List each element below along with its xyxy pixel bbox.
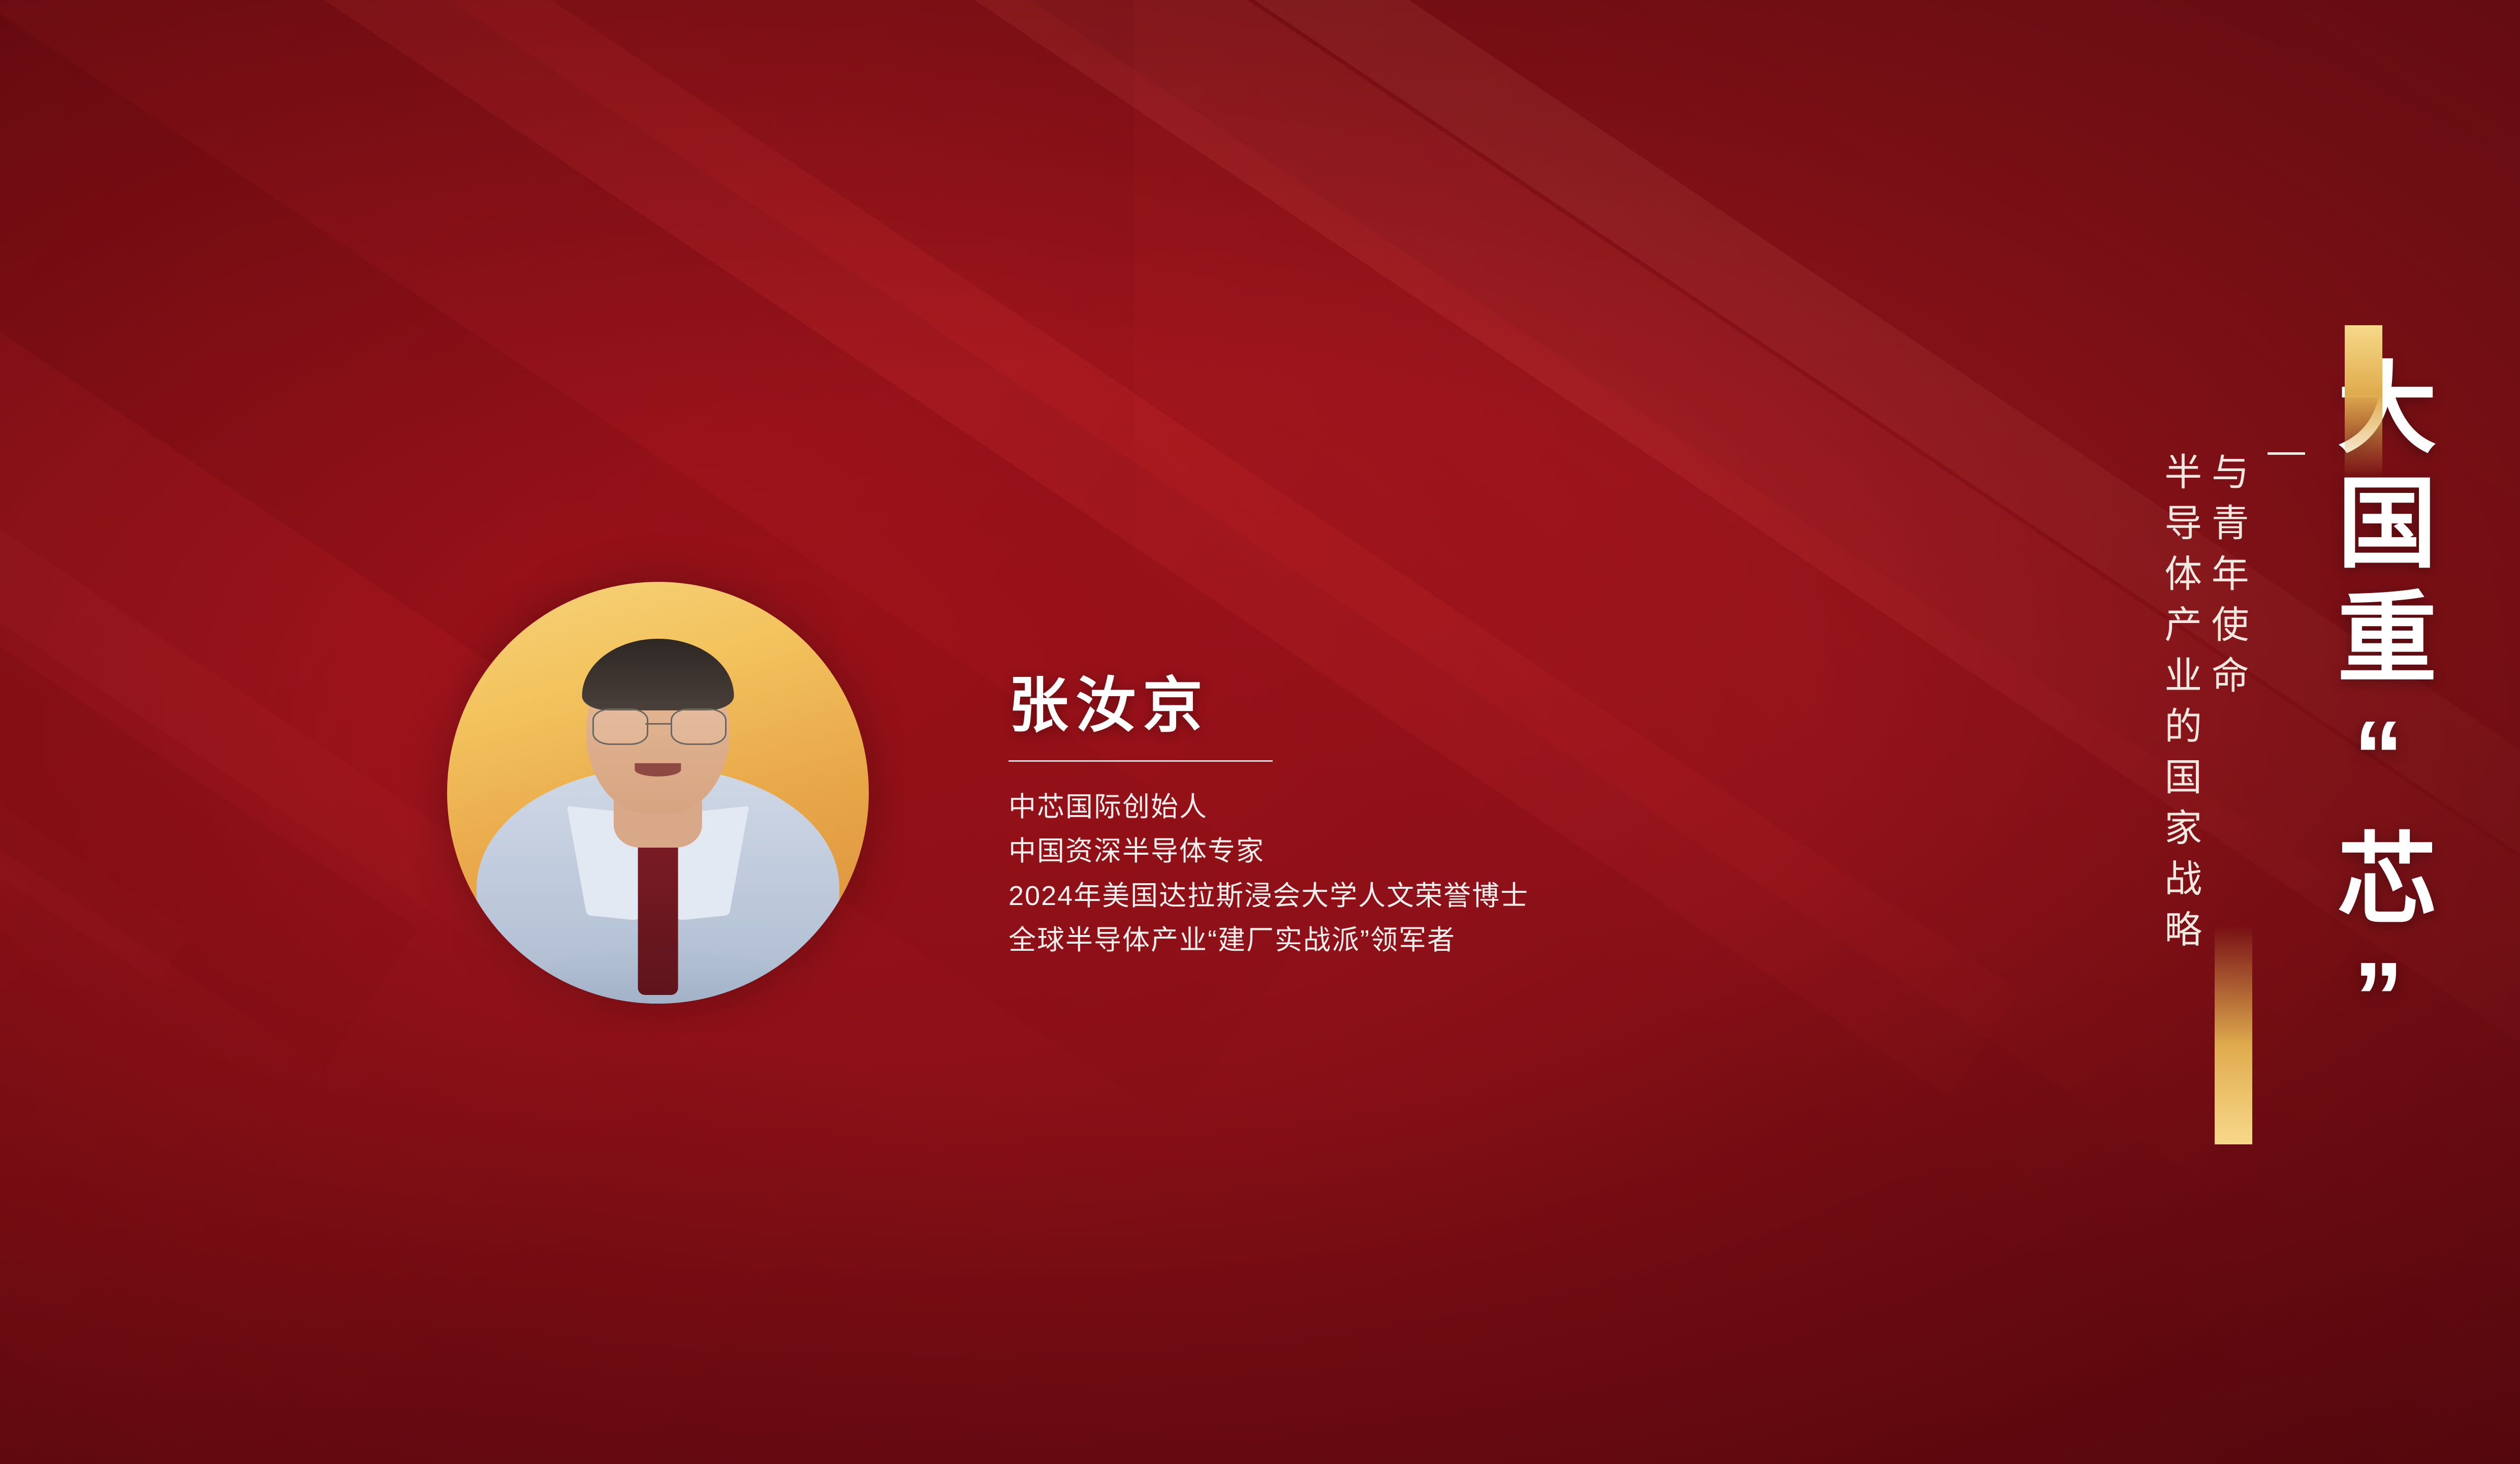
subtitle-dash	[2267, 452, 2305, 455]
gold-accent-bar-top	[2345, 325, 2382, 478]
speaker-name: 张汝京	[1009, 676, 1771, 736]
stripe-1	[0, 0, 33, 974]
stripe-2	[0, 0, 192, 984]
portrait-glasses-left	[592, 708, 648, 745]
subtitle-line-2: 与青年使命	[2203, 452, 2251, 960]
gold-accent-bar-bottom	[2215, 926, 2252, 1144]
poster-canvas: 张汝京 中芯国际创始人 中国资深半导体专家 2024年美国达拉斯浸会大学人文荣誉…	[0, 0, 2520, 1464]
credential-line-4: 全球半导体产业“建厂实战派”领军者	[1009, 918, 1771, 962]
speaker-info-block: 张汝京 中芯国际创始人 中国资深半导体专家 2024年美国达拉斯浸会大学人文荣誉…	[1009, 676, 1771, 963]
name-divider-rule	[1009, 760, 1273, 762]
credential-line-3: 2024年美国达拉斯浸会大学人文荣誉博士	[1009, 874, 1771, 918]
portrait-circle-frame	[447, 582, 869, 1004]
portrait-glasses-bridge	[645, 723, 671, 725]
stripe-3	[0, 0, 418, 1068]
portrait-necktie	[638, 826, 678, 995]
subtitle-column: 与青年使命 半导体产业的国家战略	[2156, 452, 2305, 960]
portrait-glasses-right	[671, 708, 727, 745]
credential-line-1: 中芯国际创始人	[1009, 785, 1771, 829]
subtitle-line-1: 半导体产业的国家战略	[2156, 452, 2203, 960]
portrait-mouth	[635, 763, 681, 777]
vertical-title-block: 与青年使命 半导体产业的国家战略 大国重“芯”	[2156, 356, 2431, 1068]
credential-line-2: 中国资深半导体专家	[1009, 829, 1771, 874]
speaker-portrait	[447, 582, 869, 1004]
portrait-hair	[582, 639, 734, 710]
